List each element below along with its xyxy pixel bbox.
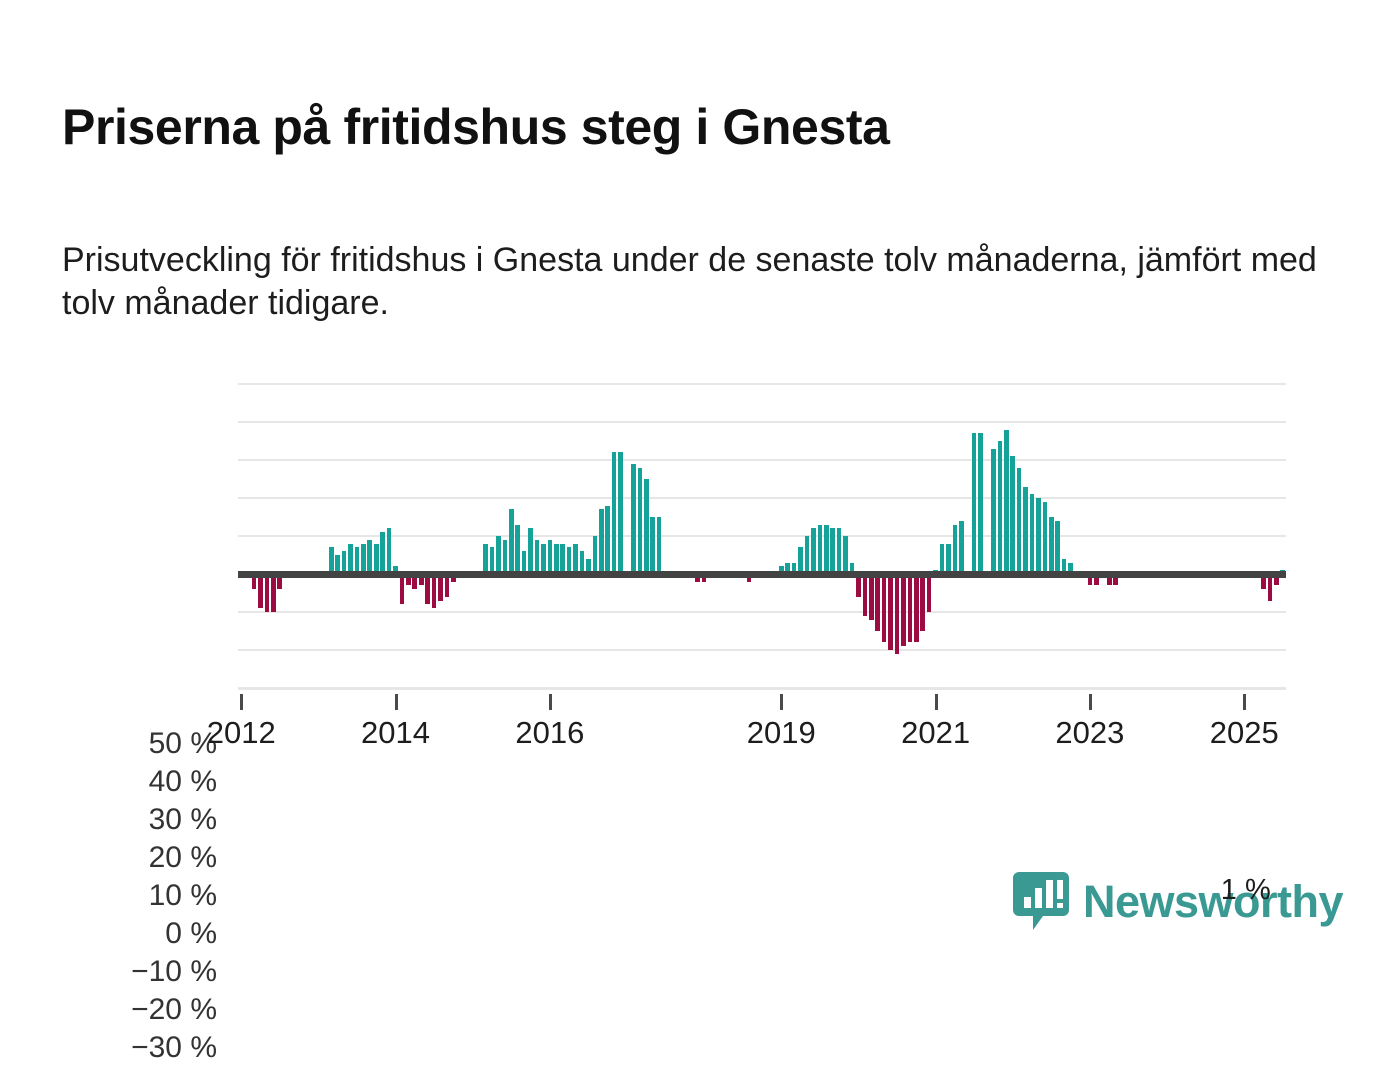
bar [972,433,977,574]
bar [1004,430,1009,574]
bar [888,574,893,650]
bar [882,574,887,642]
x-axis-tick [935,694,938,710]
y-axis-label: −10 % [57,955,217,989]
bar [515,525,520,574]
bar [483,544,488,574]
bar [908,574,913,642]
bar [644,479,649,574]
bar [355,547,360,574]
value-annotation: 1 % [1221,874,1271,907]
y-axis-label: 50 % [57,727,217,761]
bar [940,544,945,574]
x-axis-tick [240,694,243,710]
bar [805,536,810,574]
bar [329,547,334,574]
bar [824,525,829,574]
bar [387,528,392,574]
chart-page: Priserna på fritidshus steg i Gnesta Pri… [0,0,1382,999]
bar [978,433,983,574]
x-axis-line [238,688,1286,690]
bar [593,536,598,574]
x-axis-label: 2021 [901,715,970,751]
y-axis-label: 10 % [57,879,217,913]
bar [490,547,495,574]
bar [863,574,868,616]
bar [638,468,643,574]
bar [1023,487,1028,574]
bar [927,574,932,612]
y-axis-label: −20 % [57,993,217,1027]
bar [425,574,430,604]
bar [1043,502,1048,574]
bar [573,544,578,574]
bar [1017,468,1022,574]
bar [258,574,263,608]
bar [837,528,842,574]
y-axis-label: 30 % [57,803,217,837]
x-axis-label: 2016 [515,715,584,751]
bar [991,449,996,574]
bar [361,544,366,574]
bar [657,517,662,574]
x-axis-tick [1243,694,1246,710]
bar [503,540,508,574]
bar [1030,494,1035,574]
bar [1036,498,1041,574]
x-axis-label: 2025 [1210,715,1279,751]
bar [650,517,655,574]
bar [432,574,437,608]
bar-series [238,384,1286,688]
x-axis-tick [780,694,783,710]
bar [818,525,823,574]
bar [843,536,848,574]
page-title: Priserna på fritidshus steg i Gnesta [62,100,1322,154]
x-axis-tick [1089,694,1092,710]
bar [618,452,623,574]
bar [830,528,835,574]
bar [567,547,572,574]
x-axis-label: 2019 [747,715,816,751]
y-axis-label: −30 % [57,1031,217,1065]
page-subtitle: Prisutveckling för fritidshus i Gnesta u… [62,239,1332,325]
bar [400,574,405,604]
bar [811,528,816,574]
newsworthy-logo: Newsworthy [1013,872,1343,930]
bar [528,528,533,574]
bar [271,574,276,612]
x-axis-tick [395,694,398,710]
bar [548,540,553,574]
x-axis-label: 2014 [361,715,430,751]
bar [914,574,919,642]
bar [1049,517,1054,574]
bar [875,574,880,631]
bar-chart: 50 %40 %30 %20 %10 %0 %−10 %−20 %−30 % 2… [0,360,1382,780]
bar [1055,521,1060,574]
logo-wordmark: Newsworthy [1083,879,1343,924]
bar [901,574,906,646]
bar [869,574,874,620]
bar [509,509,514,574]
bar [920,574,925,631]
bar [265,574,270,612]
x-axis-label: 2012 [207,715,276,751]
bar [496,536,501,574]
bar [1010,456,1015,574]
bar [541,544,546,574]
bar [612,452,617,574]
bar [374,544,379,574]
bar [348,544,353,574]
x-axis-label: 2023 [1055,715,1124,751]
y-axis-label: 0 % [57,917,217,951]
bar [953,525,958,574]
bar [599,509,604,574]
zero-axis-line [238,571,1286,578]
bar [535,540,540,574]
x-axis-tick [549,694,552,710]
bar [631,464,636,574]
y-axis-label: 20 % [57,841,217,875]
bar [959,521,964,574]
bar [946,544,951,574]
bar [367,540,372,574]
bar-chart-speech-bubble-icon [1013,872,1069,930]
bar [380,532,385,574]
y-axis-label: 40 % [57,765,217,799]
bar [998,441,1003,574]
bar [798,547,803,574]
bar [895,574,900,654]
bar [560,544,565,574]
bar [605,506,610,574]
plot-area [238,384,1286,688]
bar [554,544,559,574]
